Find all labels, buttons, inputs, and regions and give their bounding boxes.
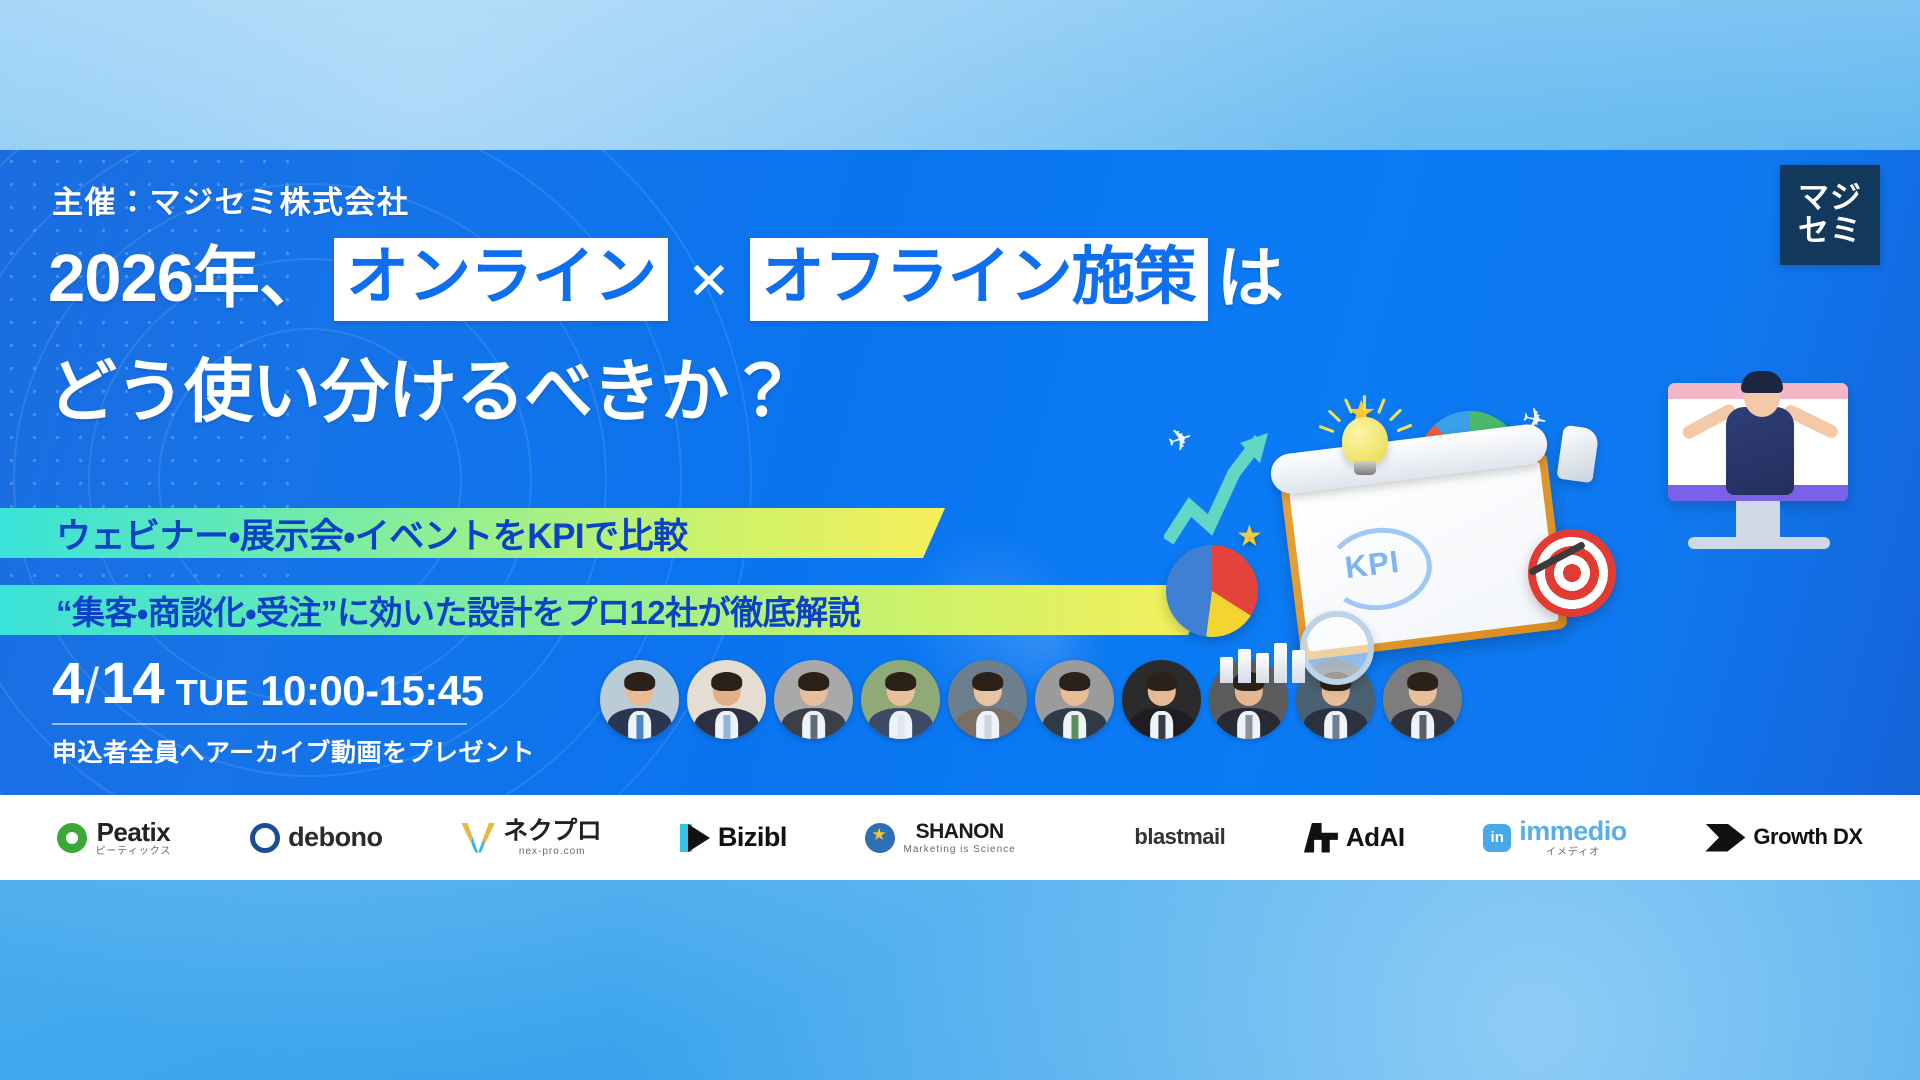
sponsor-name-group: ネクプロnex-pro.com	[503, 818, 601, 857]
speaker-avatar	[600, 660, 679, 739]
target-icon	[1528, 529, 1616, 617]
monitor-base	[1688, 537, 1830, 549]
headline-chip-online: オンライン	[334, 238, 668, 321]
subtitle-text-2: “集客・商談化・受注”に効いた設計をプロ12社が徹底解説	[0, 586, 860, 634]
sponsor-name-group: Peatixピーティックス	[95, 818, 171, 858]
presenter-illustration	[1640, 355, 1875, 595]
shanon-icon	[865, 823, 895, 853]
light-ray	[1377, 398, 1386, 414]
sponsor-logo[interactable]: SHANONMarketing is Science	[865, 820, 1015, 854]
avatar-tie	[1071, 715, 1078, 739]
event-weekday: TUE	[176, 675, 250, 711]
kpi-label: KPI	[1343, 544, 1402, 586]
bar-chart-icon	[1220, 643, 1305, 683]
bizibl-icon	[680, 824, 710, 852]
headline: 2026年、 オンライン ✕ オフライン施策 は どう使い分けるべきか？	[48, 238, 1338, 435]
debono-icon	[250, 823, 280, 853]
subtitle-bar-1: ウェビナー・展示会・イベントをKPIで比較	[0, 508, 945, 558]
speaker-avatar	[774, 660, 853, 739]
sponsor-name: Bizibl	[718, 823, 787, 853]
peatix-icon	[57, 823, 87, 853]
sponsor-logo[interactable]: Bizibl	[680, 823, 787, 853]
headline-suffix: は	[1217, 243, 1283, 315]
sponsor-name-group: blastmail	[1134, 825, 1225, 849]
sponsor-name-group: Growth DX	[1753, 825, 1862, 849]
kpi-illustration: ✈ ✈ ★ KPI ★	[1150, 395, 1610, 685]
lightbulb-icon	[1342, 417, 1388, 465]
sponsor-logo[interactable]: ネクプロnex-pro.com	[461, 818, 601, 857]
avatar-tie	[723, 715, 730, 739]
subtitle-bar-2: “集客・商談化・受注”に効いた設計をプロ12社が徹底解説	[0, 585, 1210, 635]
magnifier-icon	[1300, 611, 1374, 685]
date-divider	[52, 723, 467, 725]
avatar-tie	[636, 715, 643, 739]
avatar-hair	[711, 672, 743, 691]
headline-operator-icon: ✕	[687, 256, 731, 308]
avatar-tie	[1419, 715, 1426, 739]
immedio-icon: in	[1483, 824, 1511, 852]
avatar-hair	[798, 672, 830, 691]
presenter-body	[1726, 407, 1794, 495]
sponsor-name-group: debono	[288, 823, 382, 853]
event-month: 4	[52, 655, 83, 713]
majisemi-logo: マジ セミ	[1780, 165, 1880, 265]
sponsor-name: AdAI	[1346, 823, 1405, 852]
sponsor-name: blastmail	[1134, 825, 1225, 849]
light-ray	[1388, 408, 1401, 421]
speaker-avatar	[948, 660, 1027, 739]
blast-icon	[1094, 824, 1126, 852]
headline-prefix: 2026年、	[48, 243, 325, 315]
date-slash-icon: /	[85, 661, 99, 711]
pie-chart-icon	[1166, 545, 1258, 637]
sponsor-sub-label: nex-pro.com	[519, 846, 586, 857]
avatar-hair	[972, 672, 1004, 691]
avatar-hair	[624, 672, 656, 691]
avatar-tie	[1245, 715, 1252, 739]
sponsor-name: debono	[288, 823, 382, 853]
sponsor-logo[interactable]: inimmedioイメディオ	[1483, 817, 1627, 858]
sponsor-sub-label: イメディオ	[1546, 847, 1600, 858]
subtitle-text-1: ウェビナー・展示会・イベントをKPIで比較	[0, 508, 688, 559]
sponsor-logo[interactable]: debono	[250, 823, 382, 853]
dx-icon	[1705, 824, 1745, 852]
event-date-line: 4 / 14 TUE 10:00-15:45	[52, 655, 572, 713]
archive-bonus-note: 申込者全員へアーカイブ動画をプレゼント	[52, 733, 572, 769]
headline-line-1: 2026年、 オンライン ✕ オフライン施策 は	[48, 238, 1338, 321]
monitor-stand	[1736, 501, 1780, 539]
sponsor-logo[interactable]: Peatixピーティックス	[57, 818, 171, 858]
sponsor-name-group: Bizibl	[718, 823, 787, 853]
event-time: 10:00-15:45	[260, 670, 483, 712]
sponsor-sub-label: Marketing is Science	[903, 844, 1015, 855]
avatar-tie	[1158, 715, 1165, 739]
speaker-avatar	[687, 660, 766, 739]
avatar-tie	[897, 715, 904, 739]
avatar-hair	[1059, 672, 1091, 691]
sponsor-logo[interactable]: blastmail	[1094, 824, 1225, 852]
headline-chip-offline: オフライン施策	[750, 238, 1208, 321]
adai-icon	[1304, 823, 1338, 853]
avatar-hair	[885, 672, 917, 691]
sponsor-name: Peatix	[97, 818, 171, 847]
webinar-banner: 主催：マジセミ株式会社 マジ セミ 2026年、 オンライン ✕ オフライン施策…	[0, 0, 1920, 1080]
lightbulb-base	[1354, 461, 1376, 475]
majisemi-logo-line1: マジ	[1798, 182, 1862, 215]
sponsor-name: SHANON	[916, 820, 1004, 843]
avatar-tie	[1332, 715, 1339, 739]
sponsor-logo[interactable]: AdAI	[1304, 823, 1405, 853]
sponsor-name-group: SHANONMarketing is Science	[903, 820, 1015, 854]
light-ray	[1363, 395, 1366, 411]
headline-line-2: どう使い分けるべきか？	[48, 335, 1338, 435]
sponsor-name: ネクプロ	[503, 818, 601, 846]
sponsor-name-group: AdAI	[1346, 823, 1405, 852]
star-icon-2: ★	[1236, 519, 1263, 554]
sponsor-name-group: immedioイメディオ	[1519, 817, 1627, 858]
sponsor-sub-label: ピーティックス	[95, 846, 171, 857]
event-day: 14	[101, 655, 164, 713]
nexpro-icon	[461, 823, 495, 853]
event-date-block: 4 / 14 TUE 10:00-15:45 申込者全員へアーカイブ動画をプレゼ…	[52, 655, 572, 769]
chess-knight-icon	[1556, 425, 1599, 483]
speaker-avatar	[861, 660, 940, 739]
sponsor-logo-bar: Peatixピーティックスdebonoネクプロnex-pro.comBizibl…	[0, 795, 1920, 880]
avatar-tie	[810, 715, 817, 739]
sponsor-logo[interactable]: Growth DX	[1705, 824, 1862, 852]
organizer-label: 主催：マジセミ株式会社	[52, 177, 410, 222]
light-ray	[1318, 425, 1334, 433]
majisemi-logo-line2: セミ	[1798, 215, 1862, 248]
sponsor-name: Growth DX	[1753, 825, 1862, 849]
speaker-avatar	[1035, 660, 1114, 739]
sponsor-name: immedio	[1519, 817, 1627, 847]
light-ray	[1396, 424, 1412, 433]
light-ray	[1328, 409, 1342, 422]
avatar-tie	[984, 715, 991, 739]
presenter-hair	[1741, 371, 1783, 393]
